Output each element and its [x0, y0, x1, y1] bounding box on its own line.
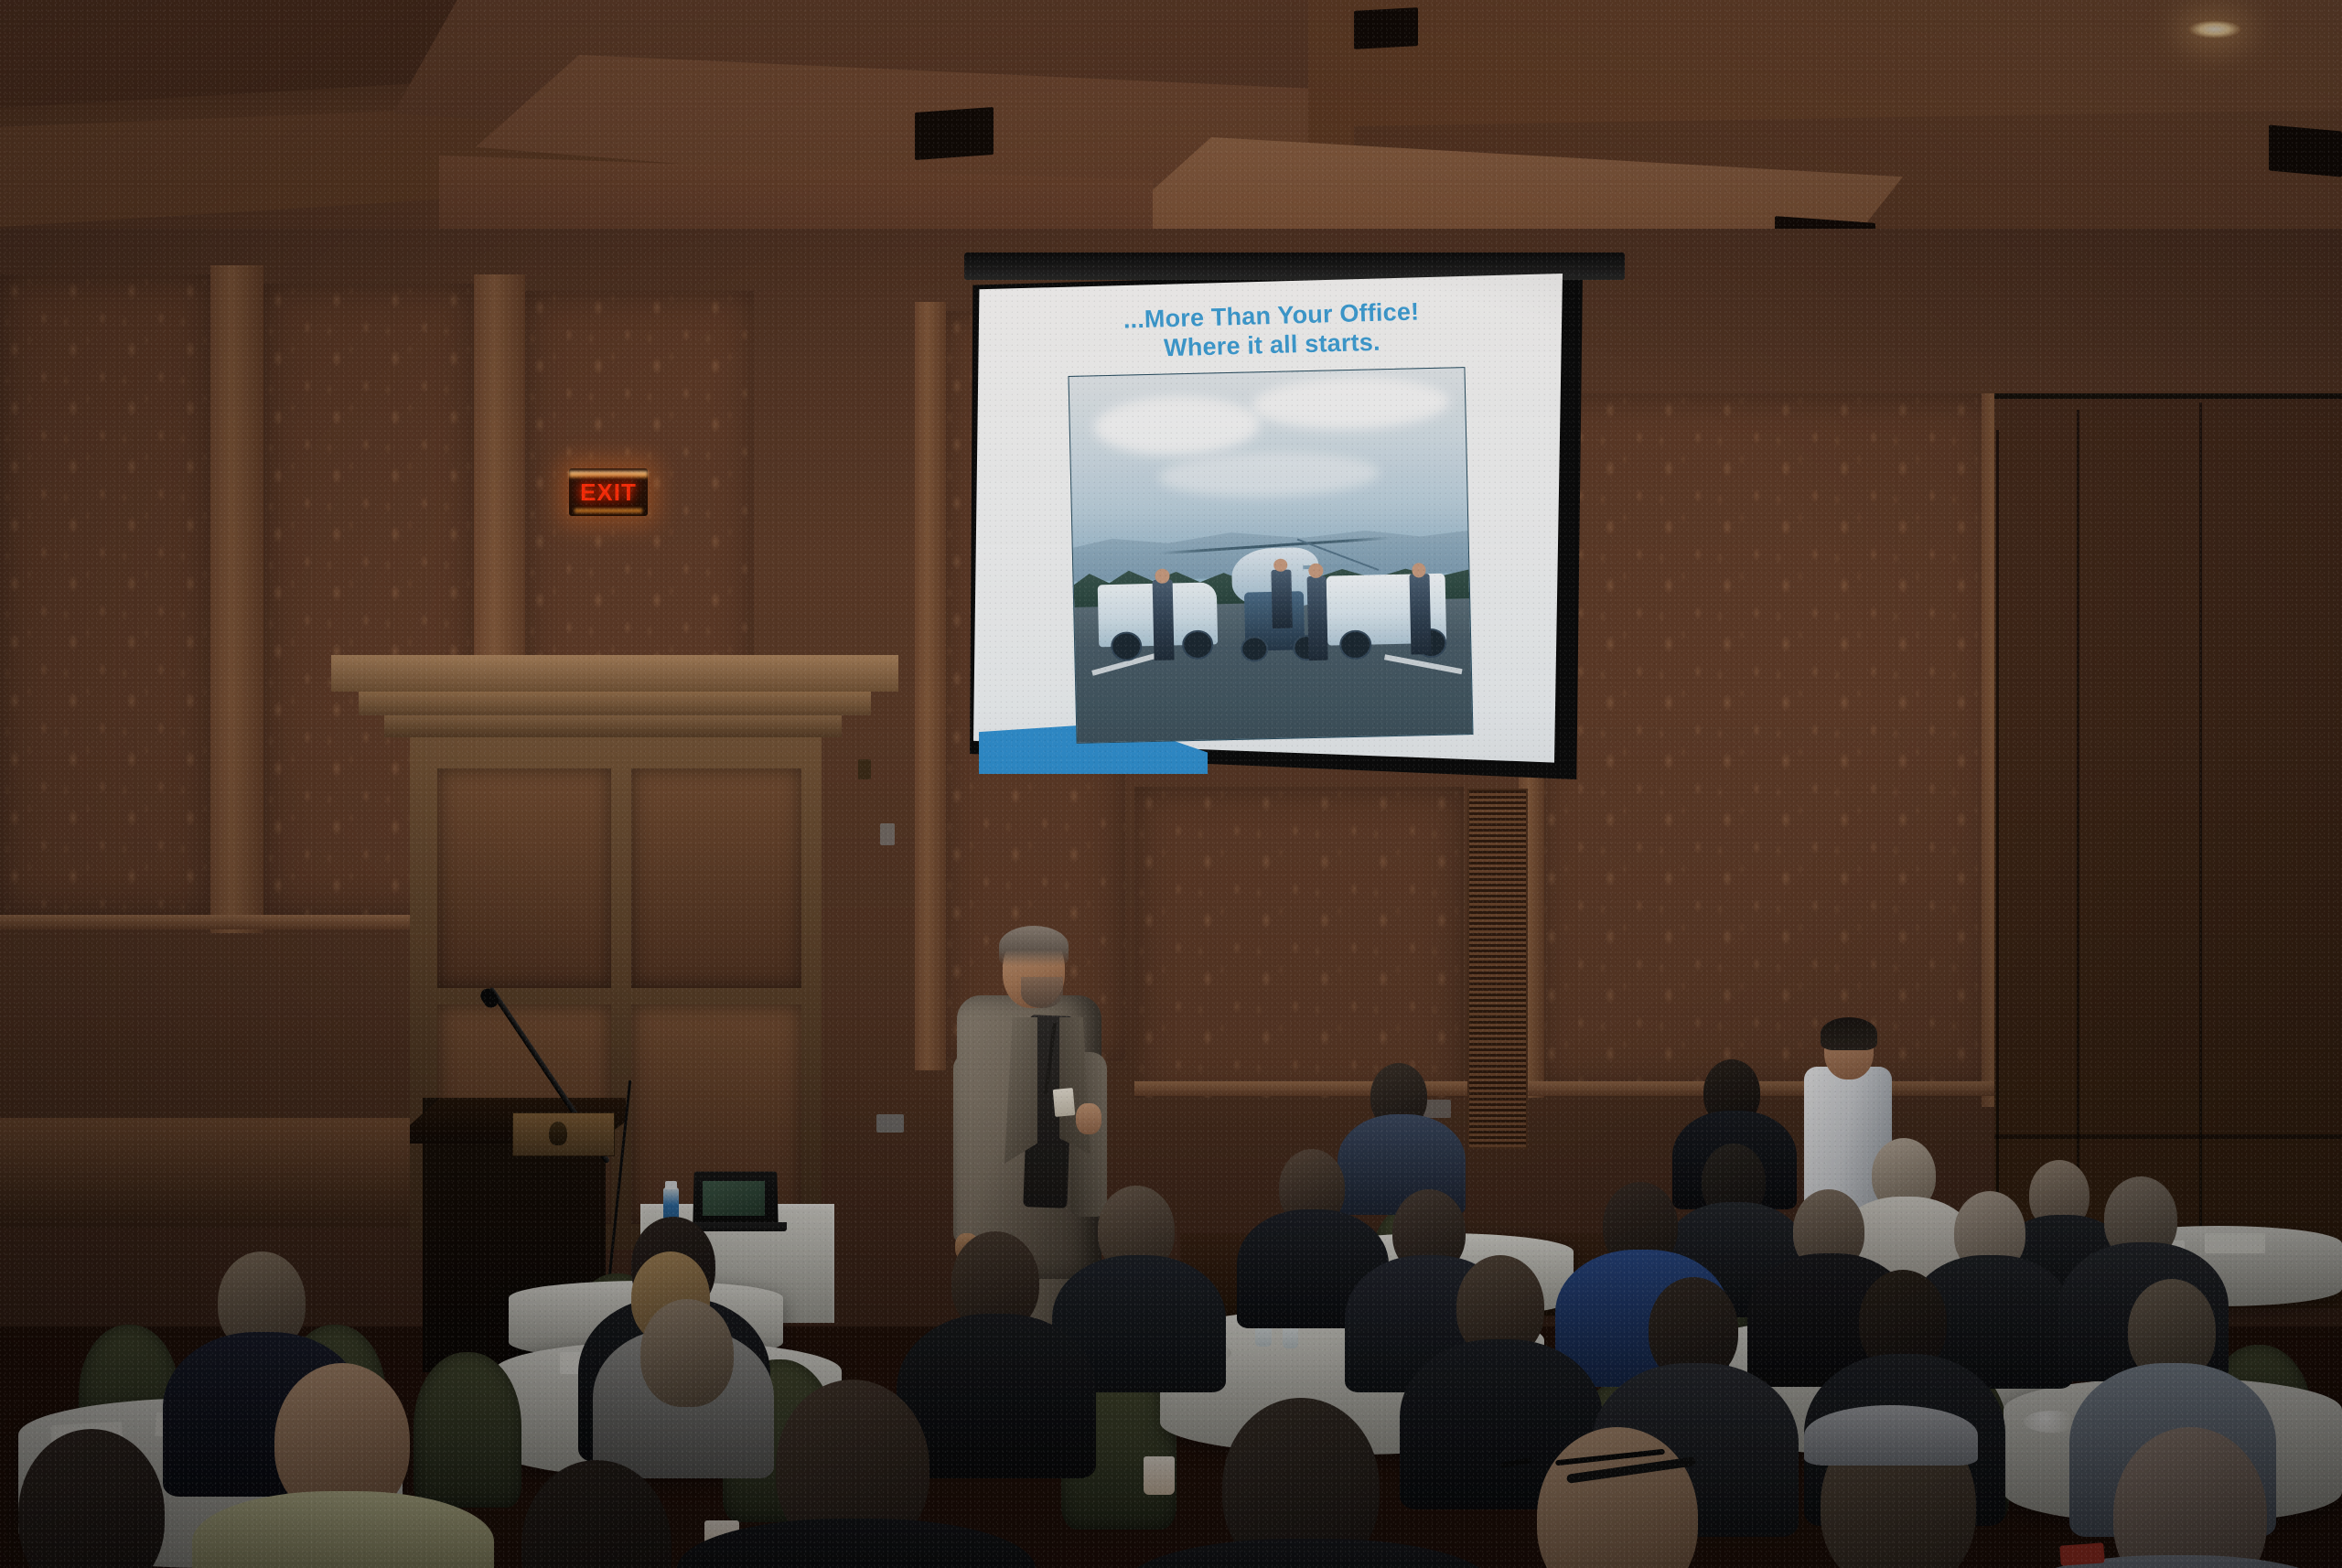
speaker-beard: [1021, 977, 1063, 1008]
exit-sign-glow: [575, 509, 642, 513]
photo-officer: [1153, 579, 1175, 660]
ceiling-vent-icon: [2269, 125, 2342, 177]
speaker-hand: [1076, 1103, 1101, 1134]
wall-pilaster: [210, 265, 263, 933]
photo-officer: [1410, 574, 1432, 654]
airwall-mid-rail: [1994, 1134, 2342, 1139]
door-cornice: [331, 655, 898, 692]
ceiling-downlight-icon: [2188, 20, 2241, 38]
door-hardware-icon: [858, 759, 871, 779]
exit-sign-glow: [569, 471, 648, 478]
shirt-logo-patch: [2059, 1542, 2104, 1565]
wall-plate: [876, 1114, 904, 1133]
baseball-cap: [1804, 1405, 1978, 1466]
airwall-seam: [1996, 430, 1999, 1308]
speaker-hair: [999, 926, 1069, 966]
door-panel: [631, 768, 801, 988]
laptop-screen: [703, 1181, 765, 1216]
standing-attendee-hair: [1821, 1017, 1877, 1050]
wall-plate: [880, 823, 895, 845]
ceiling-vent-icon: [1354, 7, 1418, 49]
wallpaper-panel: [1134, 787, 1464, 1098]
speaker-name-badge: [1053, 1088, 1076, 1117]
door-panel: [437, 768, 611, 988]
wallpaper-panel: [0, 274, 210, 915]
slide-photo: [1068, 367, 1473, 744]
coffee-cup: [1144, 1456, 1175, 1495]
audience-head: [640, 1299, 734, 1407]
air-return-grille: [1467, 789, 1528, 1149]
wall-plate: [1423, 1100, 1451, 1118]
water-bottle-cap: [665, 1181, 677, 1189]
wallpaper-panel: [1537, 393, 1994, 1089]
ballroom-presentation-photo: EXIT ...More Than Your Office! Where it …: [0, 0, 2342, 1568]
photo-officer: [1271, 570, 1292, 628]
audience-shoulders-foreground: [1125, 1539, 1491, 1568]
exit-sign-label: EXIT: [580, 478, 637, 507]
door-header: [384, 715, 842, 737]
ceiling-vent-icon: [915, 107, 994, 160]
exit-sign: EXIT: [569, 468, 648, 516]
photo-wheel: [1339, 630, 1371, 660]
banquet-chair: [414, 1352, 521, 1508]
airwall-seam: [2199, 403, 2202, 1308]
napkin: [2205, 1233, 2265, 1253]
photo-officer: [1306, 576, 1328, 660]
airwall-top-rail: [1994, 393, 2342, 399]
photo-officer-head: [1155, 569, 1169, 584]
door-cornice: [359, 692, 871, 715]
wall-pilaster: [915, 302, 946, 1070]
podium-emblem-icon: [549, 1122, 567, 1145]
